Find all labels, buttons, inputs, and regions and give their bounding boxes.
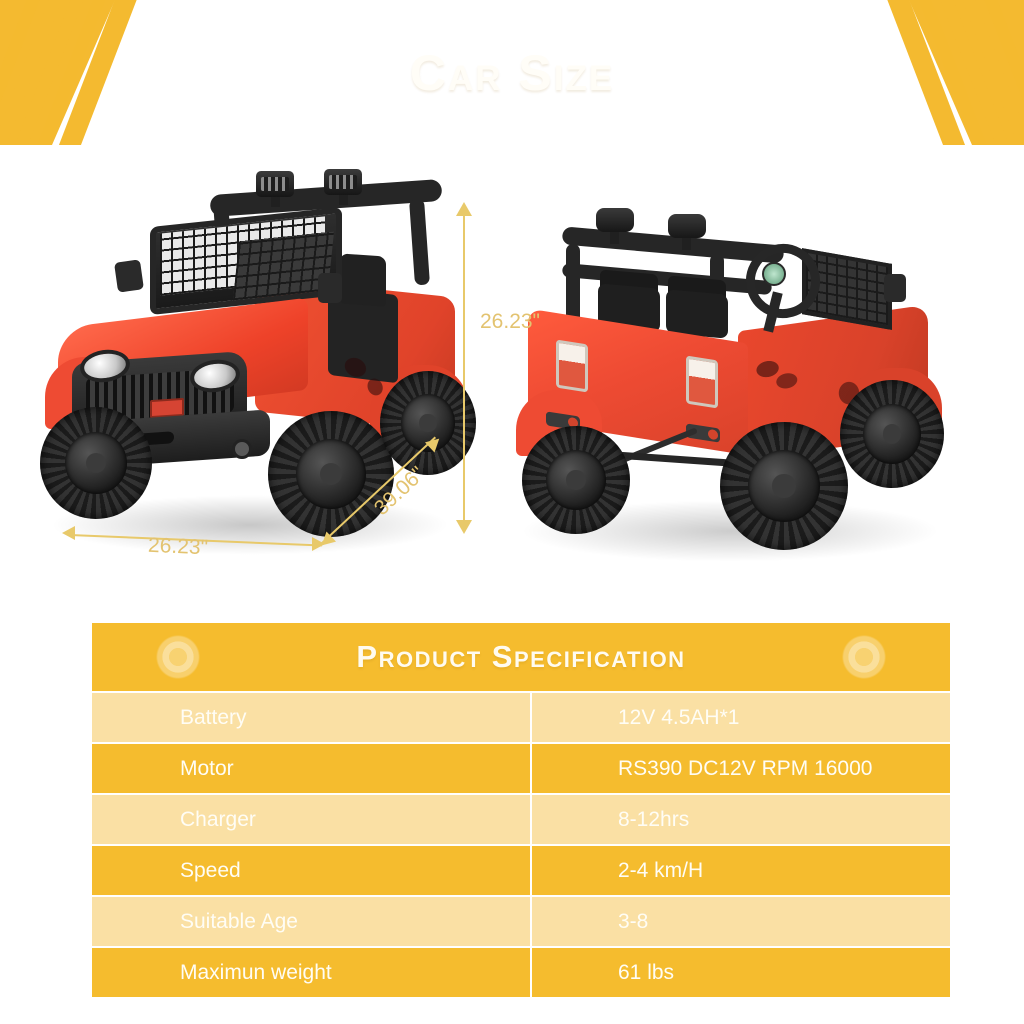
spec-table-header: Product Specification [92, 623, 950, 691]
spec-key: Battery [92, 693, 530, 742]
car-front-view-image [40, 195, 460, 585]
rear-led-lamp-right [668, 214, 706, 238]
spec-value: RS390 DC12V RPM 16000 [532, 744, 950, 793]
height-dimension-line [463, 212, 465, 532]
page-title: Car Size [0, 0, 1024, 145]
seat [340, 253, 386, 306]
height-dimension-label: 26.23" [480, 310, 540, 334]
rear-led-lamp-left [596, 208, 634, 232]
table-row: Battery 12V 4.5AH*1 [92, 693, 950, 742]
table-row: Speed 2-4 km/H [92, 846, 950, 895]
spec-value: 8-12hrs [532, 795, 950, 844]
width-dimension-label: 26.23" [148, 534, 209, 560]
tail-light-left [556, 339, 588, 392]
decorative-ring-left-icon [152, 631, 204, 683]
rear-roll-bar-post-left [566, 244, 580, 324]
spec-value: 3-8 [532, 897, 950, 946]
decorative-ring-right-icon [838, 631, 890, 683]
height-arrow-up-icon [456, 202, 472, 216]
spec-value: 2-4 km/H [532, 846, 950, 895]
spec-key: Suitable Age [92, 897, 530, 946]
roll-bar-post-right [409, 199, 430, 286]
side-mirror-left [114, 259, 144, 292]
rear-tire-right [720, 422, 848, 550]
table-row: Suitable Age 3-8 [92, 897, 950, 946]
side-mirror-right [318, 273, 342, 303]
page-header-banner: Car Size [0, 0, 1024, 145]
tailgate-decal [742, 347, 806, 400]
tail-light-right [686, 355, 718, 408]
steering-wheel-hub [762, 262, 786, 286]
tire-front-left [40, 407, 152, 519]
fog-light-right [232, 439, 252, 459]
rear-tire-far [840, 380, 944, 488]
width-arrow-left-icon [62, 526, 75, 540]
table-row: Motor RS390 DC12V RPM 16000 [92, 744, 950, 793]
product-image-area: 26.23" 26.23" 39.06" [0, 150, 1024, 610]
spec-key: Motor [92, 744, 530, 793]
led-lamp-right [324, 169, 362, 195]
car-rear-view-image [510, 200, 960, 590]
spec-table-title: Product Specification [356, 639, 685, 675]
spec-key: Speed [92, 846, 530, 895]
rear-side-mirror [884, 274, 906, 302]
spec-value: 61 lbs [532, 948, 950, 997]
spec-value: 12V 4.5AH*1 [532, 693, 950, 742]
table-row: Maximun weight 61 lbs [92, 948, 950, 997]
product-specification-table: Product Specification Battery 12V 4.5AH*… [92, 623, 950, 995]
height-arrow-down-icon [456, 520, 472, 534]
spec-key: Maximun weight [92, 948, 530, 997]
tire-rear-right [380, 371, 476, 475]
spec-key: Charger [92, 795, 530, 844]
tire-front-right [268, 411, 394, 537]
table-row: Charger 8-12hrs [92, 795, 950, 844]
led-lamp-left [256, 171, 294, 197]
rear-roll-bar-lower [562, 263, 772, 295]
rear-tire-left [522, 426, 630, 534]
